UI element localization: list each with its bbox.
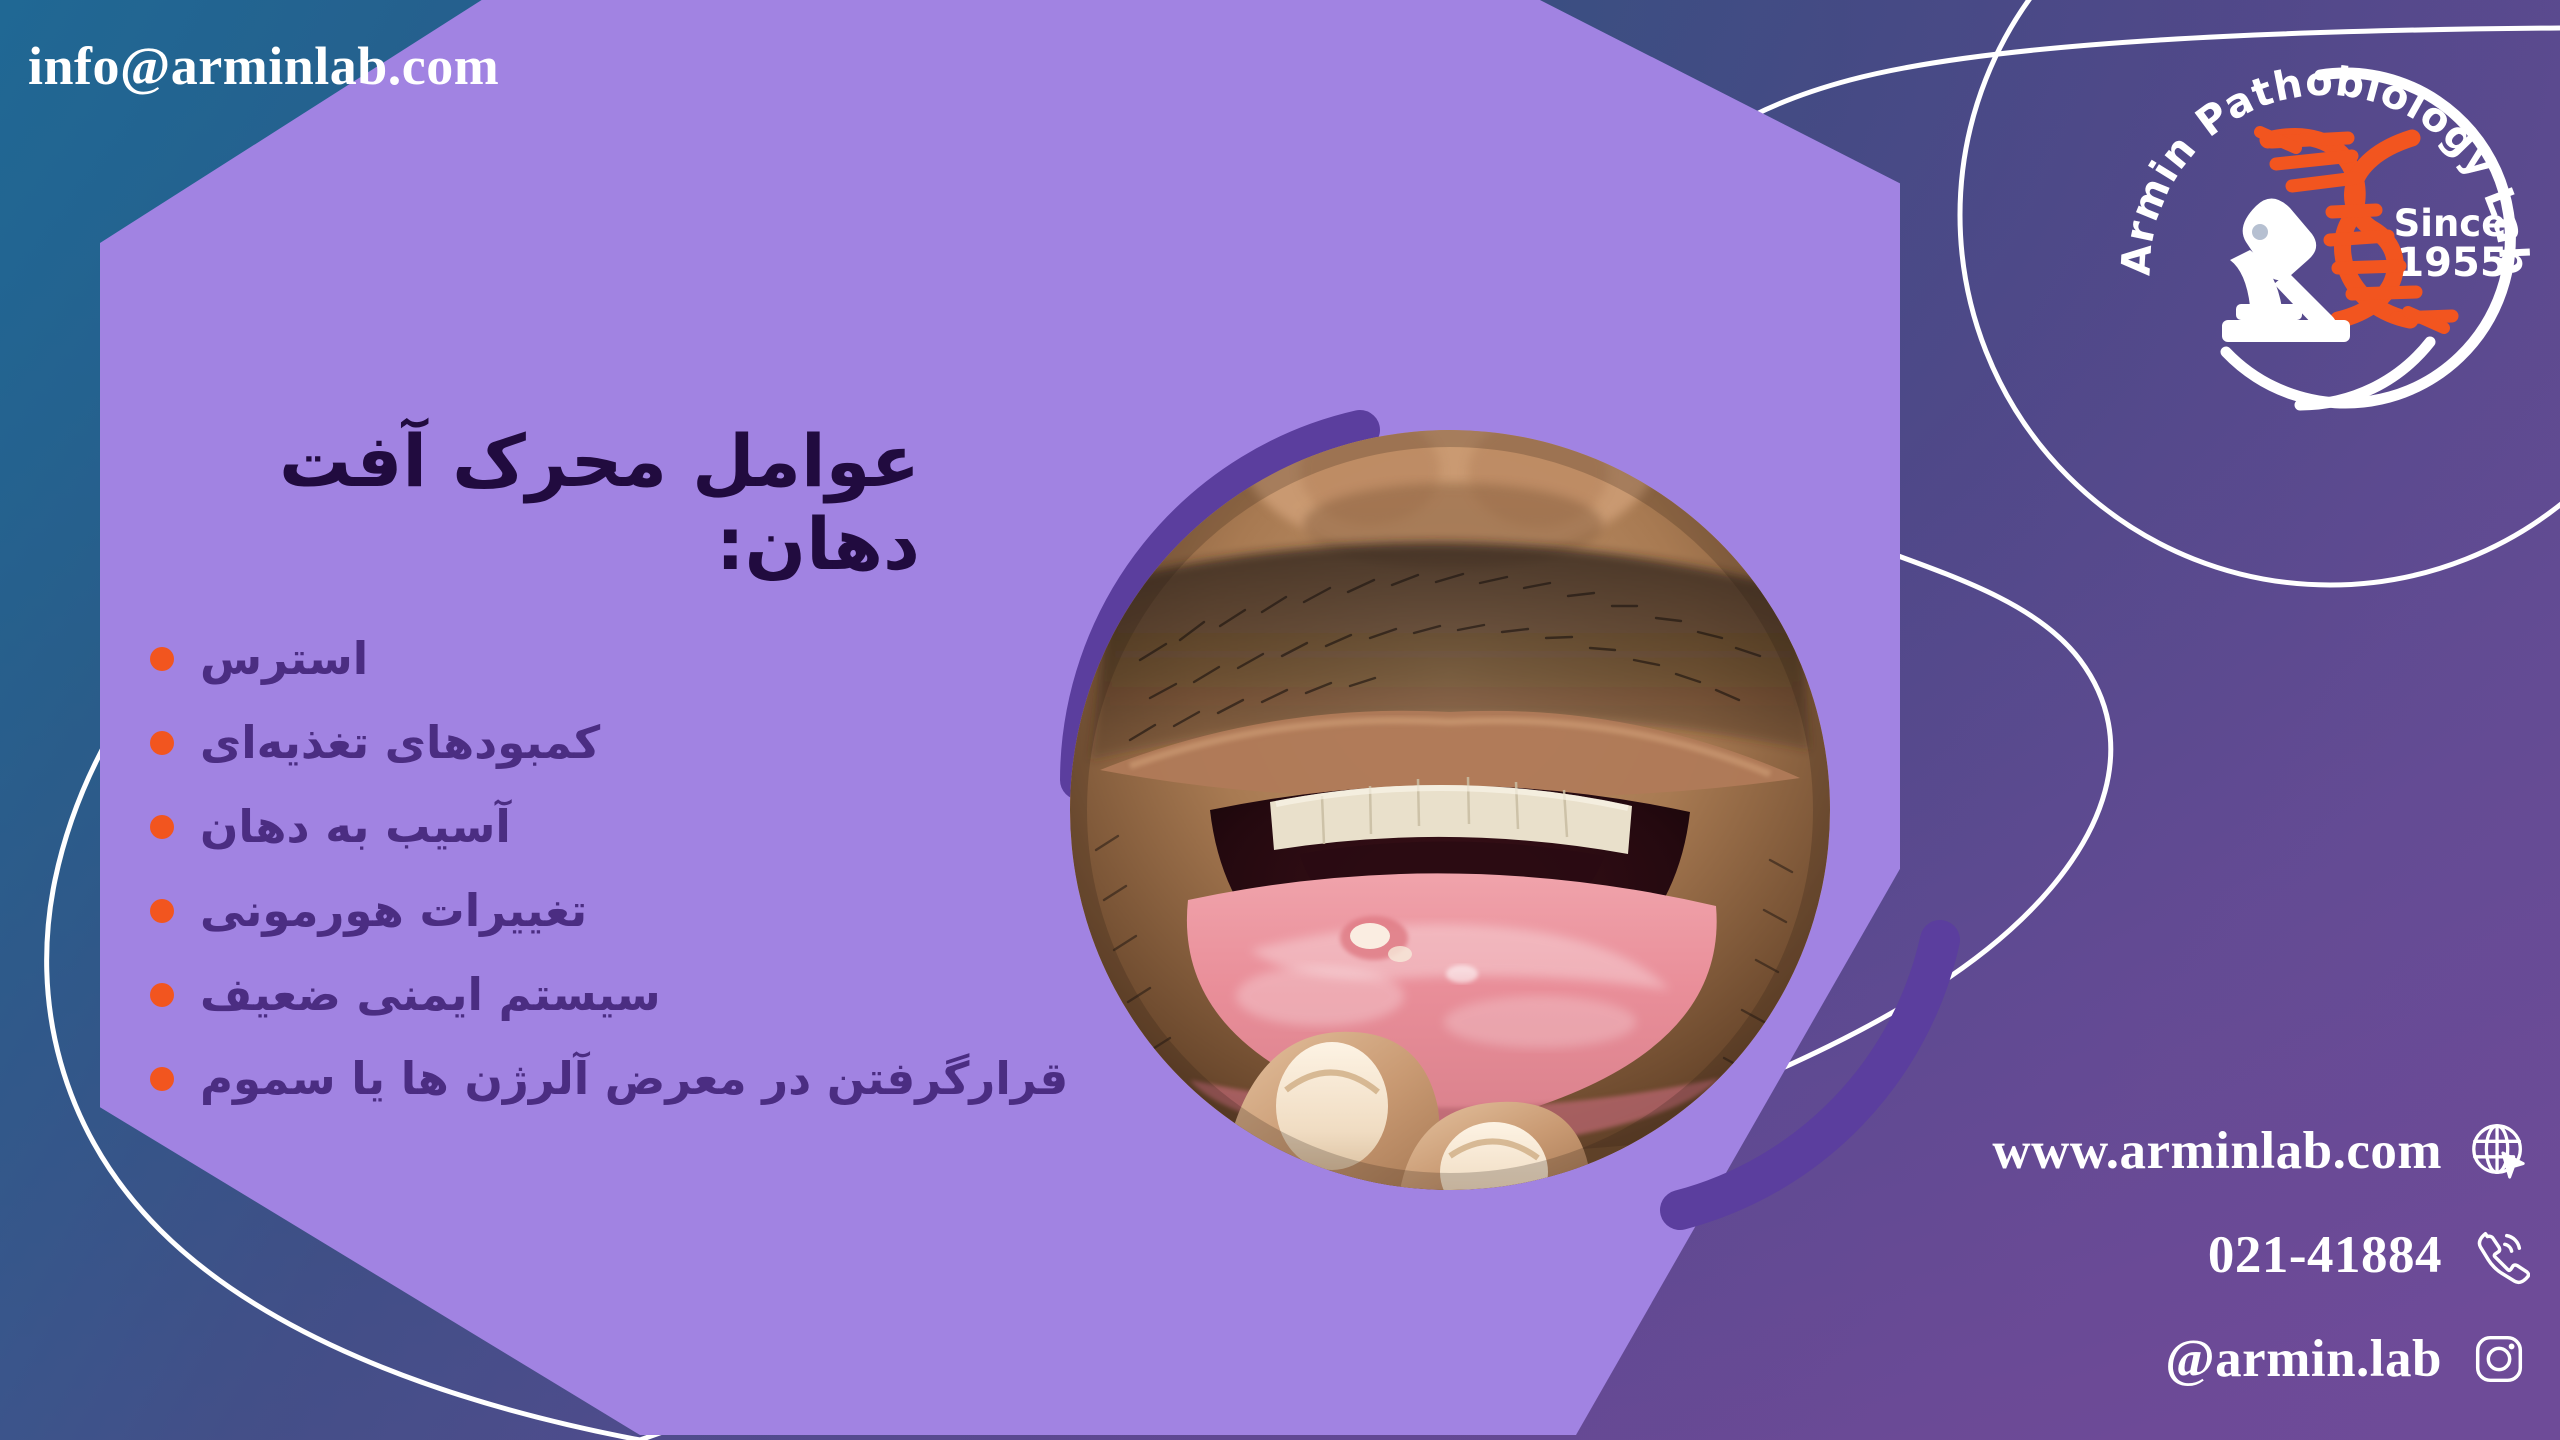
company-logo[interactable]: Armin Pathobiology Lab Since 1955: [2100, 20, 2540, 440]
contact-row-website[interactable]: www.arminlab.com: [1830, 1120, 2530, 1182]
contact-row-phone[interactable]: 021-41884: [1830, 1224, 2530, 1286]
microscope-icon: [2222, 198, 2350, 342]
logo-year-label: 1955: [2396, 240, 2507, 286]
list-item: آسیب به دهان: [150, 800, 1030, 854]
bullet-dot-icon: [150, 647, 174, 671]
list-item-label: تغییرات هورمونی: [200, 884, 587, 938]
website-url[interactable]: www.arminlab.com: [1992, 1121, 2442, 1181]
list-item-label: سیستم ایمنی ضعیف: [200, 968, 661, 1022]
list-item: تغییرات هورمونی: [150, 884, 1030, 938]
list-item: قرارگرفتن در معرض آلرژن ها یا سموم: [150, 1052, 1030, 1106]
globe-cursor-icon: [2468, 1120, 2530, 1182]
factors-list: استرس کمبودهای تغذیه‌ای آسیب به دهان تغی…: [150, 632, 1030, 1106]
logo-since-label: Since: [2394, 202, 2507, 245]
instagram-handle[interactable]: @armin.lab: [2165, 1329, 2442, 1389]
list-item: استرس: [150, 632, 1030, 686]
bullet-dot-icon: [150, 983, 174, 1007]
photo-illustration: [1070, 430, 1830, 1190]
list-item: کمبودهای تغذیه‌ای: [150, 716, 1030, 770]
bullet-dot-icon: [150, 731, 174, 755]
contact-block: www.arminlab.com 021-41884: [1830, 1120, 2530, 1390]
list-item-label: کمبودهای تغذیه‌ای: [200, 716, 600, 770]
list-item: سیستم ایمنی ضعیف: [150, 968, 1030, 1022]
logo-mark: Armin Pathobiology Lab Since 1955: [2100, 20, 2540, 440]
list-item-label: استرس: [200, 632, 368, 686]
phone-icon: [2468, 1224, 2530, 1286]
poster-canvas: عوامل محرک آفت دهان: استرس کمبودهای تغذی…: [0, 0, 2560, 1440]
email-address[interactable]: info@arminlab.com: [28, 35, 499, 97]
instagram-icon: [2468, 1328, 2530, 1390]
bullet-dot-icon: [150, 815, 174, 839]
mouth-ulcer-photo: [1070, 430, 1830, 1190]
list-item-label: قرارگرفتن در معرض آلرژن ها یا سموم: [200, 1052, 1068, 1106]
bullet-dot-icon: [150, 899, 174, 923]
page-title: عوامل محرک آفت دهان:: [150, 420, 1030, 586]
contact-row-instagram[interactable]: @armin.lab: [1830, 1328, 2530, 1390]
list-item-label: آسیب به دهان: [200, 800, 511, 854]
main-content: عوامل محرک آفت دهان: استرس کمبودهای تغذی…: [150, 420, 1030, 1136]
bullet-dot-icon: [150, 1067, 174, 1091]
phone-number[interactable]: 021-41884: [2208, 1225, 2442, 1285]
